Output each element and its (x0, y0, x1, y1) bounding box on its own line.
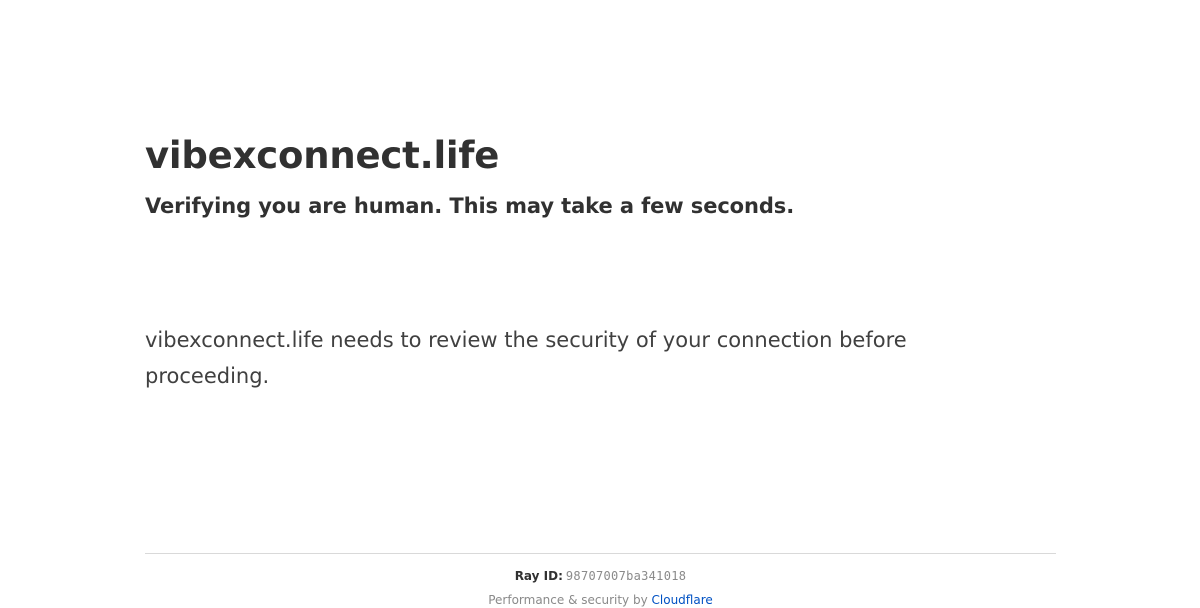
ray-id: Ray ID:98707007ba341018 (145, 554, 1056, 584)
cloudflare-link[interactable]: Cloudflare (652, 593, 713, 607)
challenge-page: vibexconnect.life Verifying you are huma… (0, 0, 1200, 600)
attribution: Performance & security by Cloudflare (145, 584, 1056, 608)
ray-id-label: Ray ID: (515, 569, 563, 583)
page-title: vibexconnect.life (145, 134, 499, 178)
ray-id-value: 98707007ba341018 (566, 569, 686, 583)
challenge-explanation-text: vibexconnect.life needs to review the se… (145, 322, 945, 394)
turnstile-challenge-widget[interactable] (145, 236, 445, 306)
verification-status-text: Verifying you are human. This may take a… (145, 192, 794, 220)
attribution-prefix: Performance & security by (488, 593, 651, 607)
